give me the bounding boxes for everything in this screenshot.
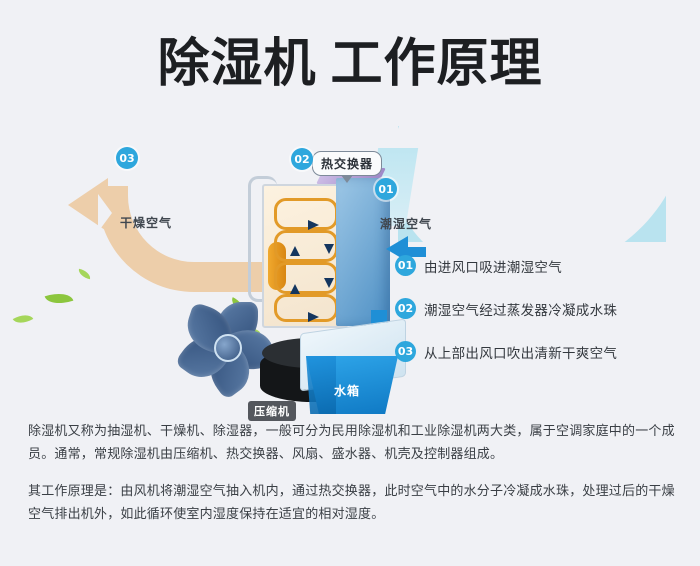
step-list: 01 由进风口吸进潮湿空气 02 潮湿空气经过蒸发器冷凝成水珠 03 从上部出风… (395, 255, 685, 384)
dehumidifier-machine-graphic: 水箱 (248, 160, 398, 406)
step-text: 潮湿空气经过蒸发器冷凝成水珠 (424, 299, 617, 319)
heat-exchanger-callout: 热交换器 (312, 151, 382, 176)
body-paragraph-2: 其工作原理是：由风机将潮湿空气抽入机内，通过热交换器，此时空气中的水分子冷凝成水… (28, 480, 680, 526)
step-number-badge: 02 (395, 298, 416, 319)
step-text: 从上部出风口吹出清新干爽空气 (424, 342, 617, 362)
diagram-badge-02: 02 (291, 148, 313, 170)
evaporator-fins-graphic (336, 178, 390, 326)
step-number-badge: 03 (395, 341, 416, 362)
list-item: 02 潮湿空气经过蒸发器冷凝成水珠 (395, 298, 685, 319)
humid-air-sweep-graphic (398, 126, 666, 242)
step-text: 由进风口吸进潮湿空气 (424, 256, 562, 276)
leaf-icon (13, 310, 34, 328)
diagram-badge-03: 03 (116, 147, 138, 169)
body-copy: 除湿机又称为抽湿机、干燥机、除湿器，一般可分为民用除湿机和工业除湿机两大类，属于… (28, 420, 680, 536)
compressor-label: 压缩机 (248, 401, 296, 421)
list-item: 01 由进风口吸进潮湿空气 (395, 255, 685, 276)
dry-air-label: 干燥空气 (120, 214, 172, 231)
page-title: 除湿机工作原理 (0, 34, 700, 94)
diagram-badge-01: 01 (375, 178, 397, 200)
page-title-part1: 除湿机 (157, 34, 316, 94)
water-tank-label: 水箱 (334, 382, 360, 399)
list-item: 03 从上部出风口吹出清新干爽空气 (395, 341, 685, 362)
leaf-icon (45, 288, 74, 308)
page-title-part2: 工作原理 (331, 34, 543, 94)
step-number-badge: 01 (395, 255, 416, 276)
humid-air-label: 潮湿空气 (380, 215, 432, 232)
body-paragraph-1: 除湿机又称为抽湿机、干燥机、除湿器，一般可分为民用除湿机和工业除湿机两大类，属于… (28, 420, 680, 466)
infographic-page: 除湿机工作原理 (0, 0, 700, 566)
